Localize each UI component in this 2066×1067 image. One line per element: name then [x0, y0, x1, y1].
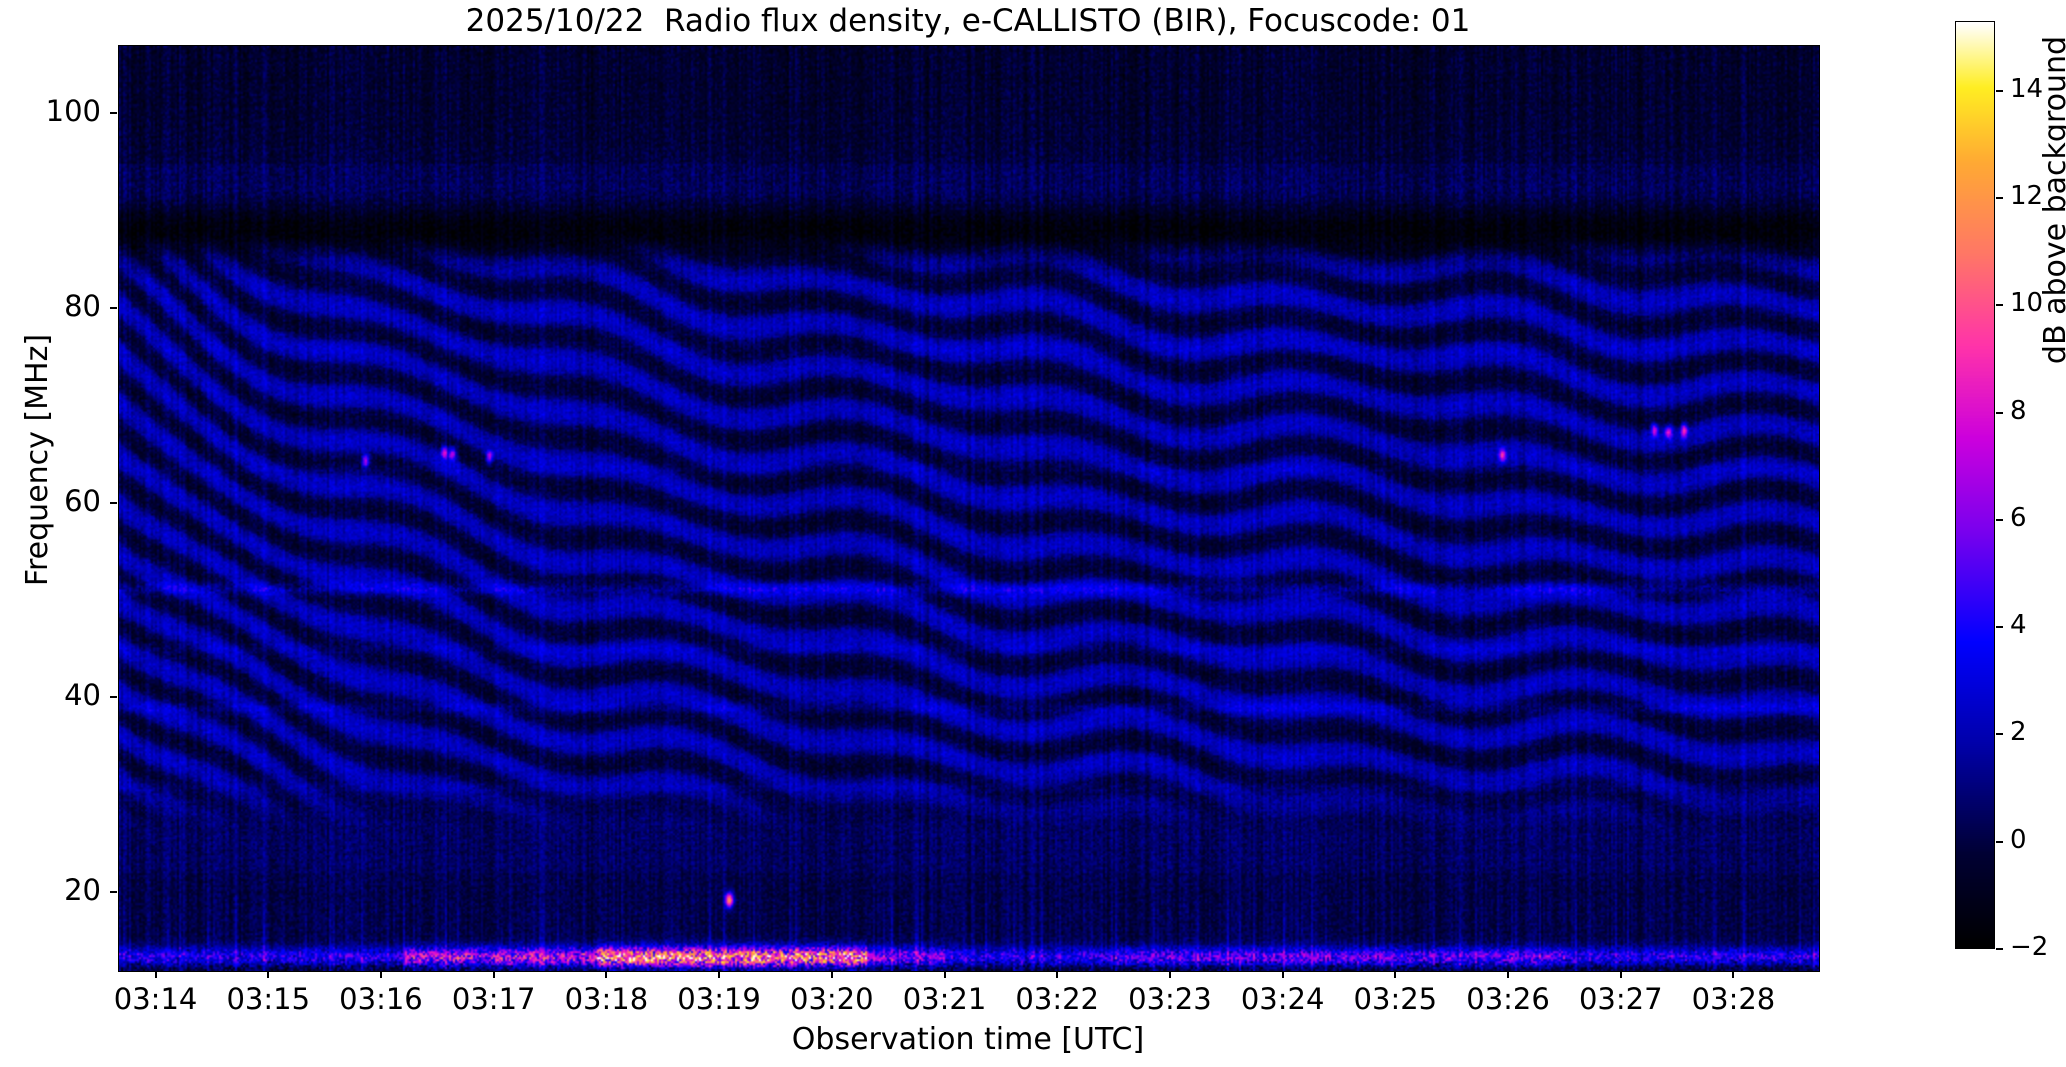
figure-canvas: 2025/10/22 Radio flux density, e-CALLIST… [0, 0, 2066, 1067]
y-tick-mark [110, 891, 117, 893]
x-tick-mark [1394, 971, 1396, 978]
x-tick-mark [155, 971, 157, 978]
y-tick-mark [110, 112, 117, 114]
x-tick-mark [1169, 971, 1171, 978]
colorbar-tick-mark [1996, 304, 2003, 306]
y-tick-mark [110, 696, 117, 698]
x-tick-mark [944, 971, 946, 978]
colorbar-tick-label: 2 [2010, 717, 2027, 747]
colorbar-tick-mark [1996, 626, 2003, 628]
x-tick-mark [1282, 971, 1284, 978]
x-tick-mark [1732, 971, 1734, 978]
colorbar-tick-label: 8 [2010, 396, 2027, 426]
x-tick-label: 03:28 [1653, 982, 1813, 1016]
spectrogram-axes [118, 45, 1820, 972]
x-tick-mark [380, 971, 382, 978]
x-tick-mark [1620, 971, 1622, 978]
spectrogram-image [119, 46, 1819, 971]
x-axis-label: Observation time [UTC] [118, 1022, 1818, 1057]
colorbar-tick-mark [1996, 197, 2003, 199]
colorbar-tick-label: 6 [2010, 503, 2027, 533]
colorbar-tick-label: −2 [2010, 932, 2048, 962]
colorbar-tick-label: 0 [2010, 825, 2027, 855]
colorbar-gradient [1955, 21, 1995, 949]
colorbar [1955, 21, 1995, 949]
page-title: 2025/10/22 Radio flux density, e-CALLIST… [118, 2, 1818, 40]
colorbar-tick-mark [1996, 519, 2003, 521]
colorbar-tick-mark [1996, 90, 2003, 92]
x-tick-mark [493, 971, 495, 978]
x-tick-mark [1507, 971, 1509, 978]
colorbar-tick-mark [1996, 841, 2003, 843]
y-tick-mark [110, 502, 117, 504]
colorbar-tick-mark [1996, 412, 2003, 414]
x-tick-mark [267, 971, 269, 978]
y-axis-label: Frequency [MHz] [20, 60, 55, 860]
x-tick-mark [831, 971, 833, 978]
x-tick-mark [1056, 971, 1058, 978]
colorbar-label: dB above background [2038, 0, 2066, 510]
x-tick-mark [605, 971, 607, 978]
colorbar-tick-mark [1996, 733, 2003, 735]
colorbar-tick-mark [1996, 948, 2003, 950]
y-tick-label: 20 [0, 873, 101, 907]
colorbar-tick-label: 4 [2010, 610, 2027, 640]
x-tick-mark [718, 971, 720, 978]
y-tick-mark [110, 307, 117, 309]
